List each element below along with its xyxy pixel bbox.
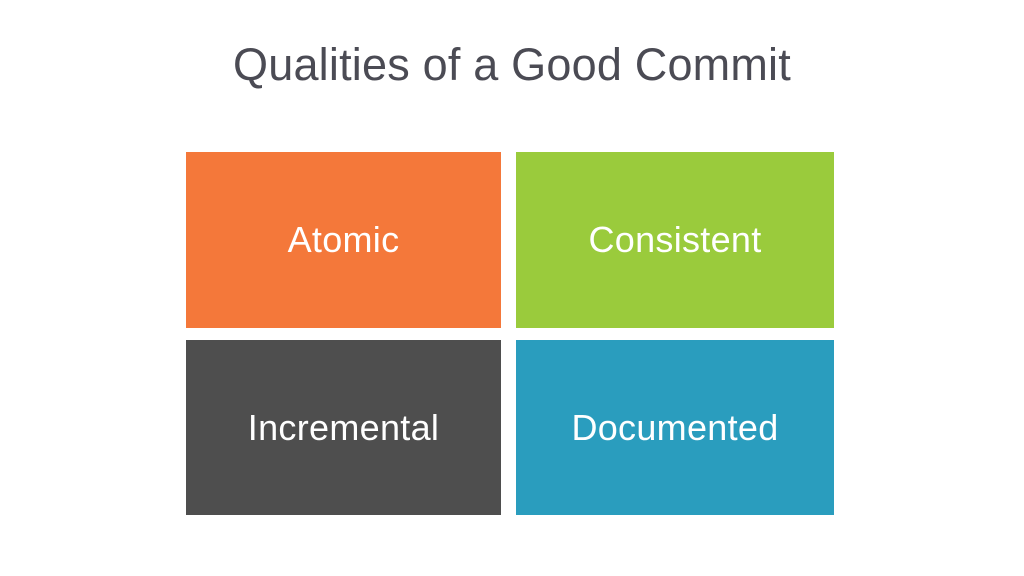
presentation-slide: Qualities of a Good Commit Atomic Consis… [0,0,1024,576]
tile-label-consistent: Consistent [588,219,761,260]
page-title: Qualities of a Good Commit [0,40,1024,90]
tile-incremental[interactable]: Incremental [186,340,501,515]
tile-label-documented: Documented [571,407,778,448]
tile-consistent[interactable]: Consistent [516,152,834,328]
tile-label-incremental: Incremental [248,407,439,448]
tile-documented[interactable]: Documented [516,340,834,515]
qualities-tile-grid: Atomic Consistent Incremental Documented [186,152,834,515]
tile-atomic[interactable]: Atomic [186,152,501,328]
tile-label-atomic: Atomic [288,219,400,260]
